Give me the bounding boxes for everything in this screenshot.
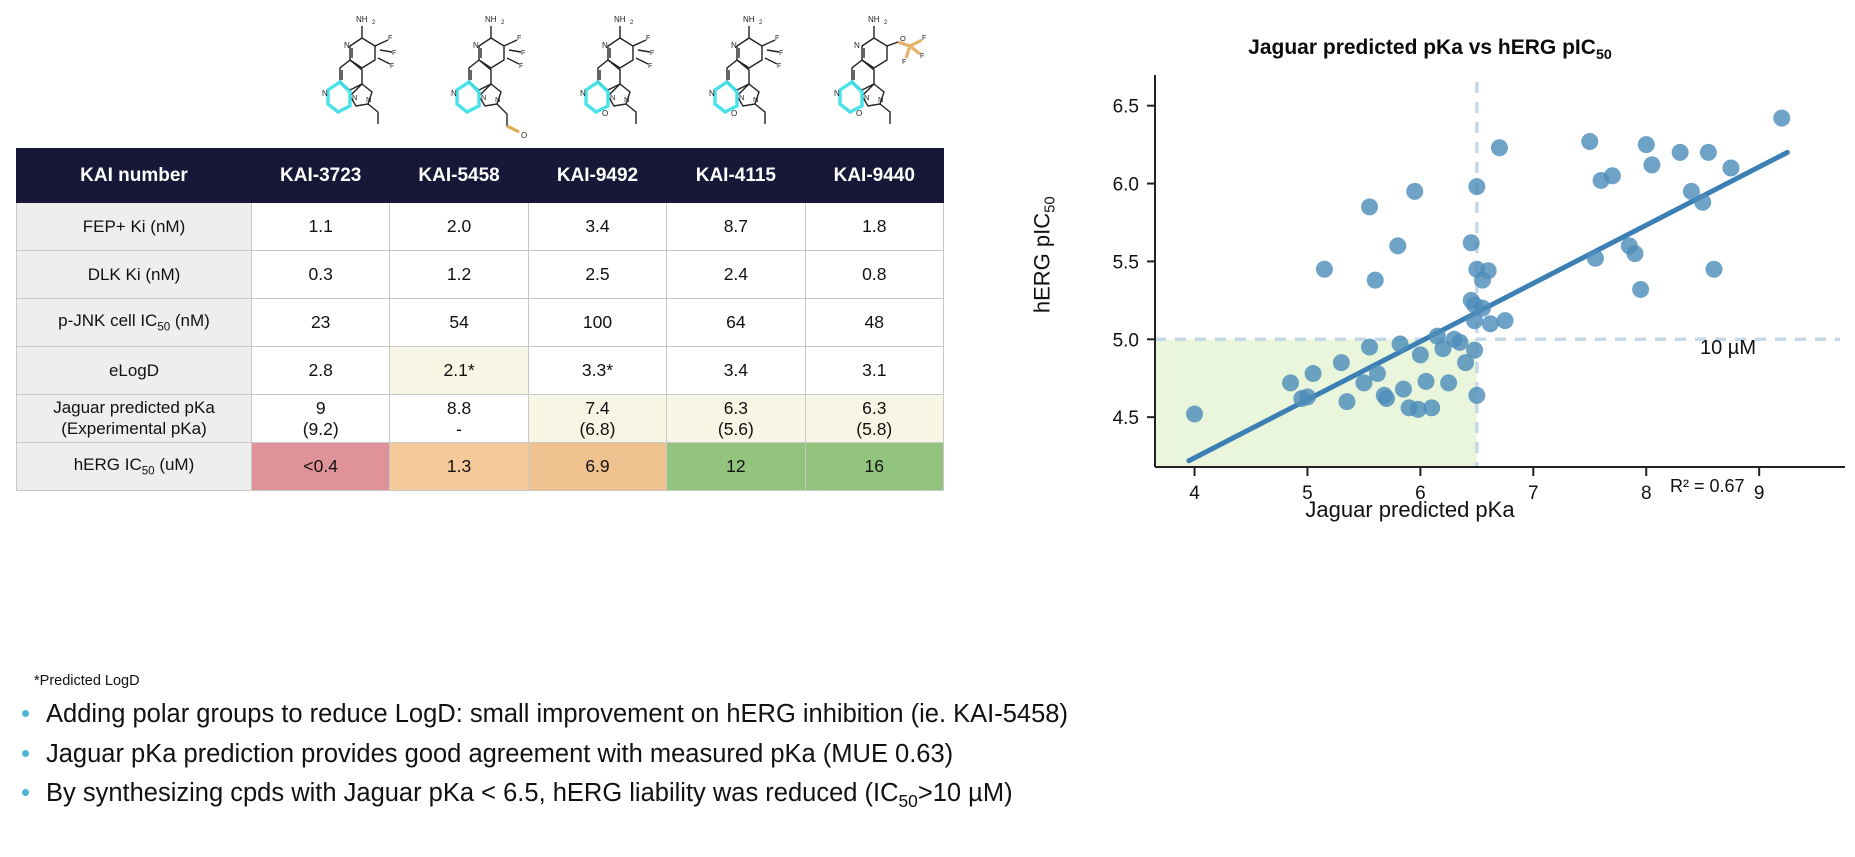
- svg-text:N: N: [624, 95, 629, 104]
- svg-text:NH: NH: [743, 15, 755, 24]
- svg-text:N: N: [864, 93, 869, 102]
- cell-herg-0: <0.4: [252, 443, 390, 491]
- cell-jaguar-3-top: 6.3: [671, 398, 800, 419]
- scatter-point: [1186, 406, 1203, 423]
- svg-text:F: F: [777, 63, 781, 70]
- svg-text:N: N: [481, 93, 486, 102]
- svg-text:N: N: [366, 95, 371, 104]
- svg-text:O: O: [521, 131, 527, 140]
- scatter-point: [1773, 110, 1790, 127]
- svg-text:NH: NH: [614, 15, 626, 24]
- table-header-row: KAI number KAI-3723 KAI-5458 KAI-9492 KA…: [17, 149, 944, 203]
- cell-fep-ki-4: 1.8: [805, 203, 943, 251]
- cell-jaguar-4-bottom: (5.8): [810, 419, 939, 440]
- scatter-point: [1474, 300, 1491, 317]
- svg-text:F: F: [775, 35, 779, 42]
- cell-fep-ki-1: 2.0: [390, 203, 528, 251]
- table-row: eLogD 2.8 2.1* 3.3* 3.4 3.1: [17, 347, 944, 395]
- cell-jaguar-4: 6.3 (5.8): [805, 395, 943, 443]
- svg-text:N: N: [352, 93, 357, 102]
- cell-dlk-ki-0: 0.3: [252, 251, 390, 299]
- bullet-text-3-pre: By synthesizing cpds with Jaguar pKa < 6…: [46, 779, 899, 807]
- cell-jaguar-1-bottom: -: [394, 419, 523, 440]
- svg-text:N: N: [854, 41, 860, 50]
- scatter-point: [1468, 178, 1485, 195]
- structure-row: NH2 N F F F N N N: [300, 8, 945, 148]
- cell-fep-ki-0: 1.1: [252, 203, 390, 251]
- cell-jaguar-2: 7.4 (6.8): [528, 395, 666, 443]
- scatter-point: [1406, 183, 1423, 200]
- header-compound-4: KAI-9440: [805, 149, 943, 203]
- svg-text:N: N: [451, 89, 457, 98]
- cell-pjnk-2: 100: [528, 299, 666, 347]
- scatter-point: [1389, 237, 1406, 254]
- scatter-point: [1604, 167, 1621, 184]
- svg-text:F: F: [390, 63, 394, 70]
- svg-text:F: F: [517, 35, 521, 42]
- svg-text:N: N: [322, 89, 328, 98]
- cell-elogd-2: 3.3*: [528, 347, 666, 395]
- table-footnote: *Predicted LogD: [34, 673, 140, 689]
- scatter-point: [1468, 387, 1485, 404]
- bullet-dot-icon: [22, 750, 29, 757]
- svg-text:O: O: [856, 109, 862, 118]
- header-compound-2: KAI-9492: [528, 149, 666, 203]
- scatter-chart: Jaguar predicted pKa vs hERG pIC50 4.55.…: [1010, 12, 1850, 557]
- list-item: By synthesizing cpds with Jaguar pKa < 6…: [22, 779, 1522, 812]
- svg-text:2: 2: [884, 20, 888, 26]
- y-axis-label-main: hERG pIC: [1029, 213, 1054, 313]
- cell-herg-3: 12: [667, 443, 805, 491]
- svg-text:N: N: [602, 41, 608, 50]
- svg-text:N: N: [610, 93, 615, 102]
- chart-x-axis-label: Jaguar predicted pKa: [1130, 497, 1690, 523]
- table-row: hERG IC50 (uM) <0.4 1.3 6.9 12 16: [17, 443, 944, 491]
- cell-dlk-ki-2: 2.5: [528, 251, 666, 299]
- svg-text:2: 2: [759, 20, 763, 26]
- row-label-herg-sub: 50: [142, 466, 155, 478]
- row-label-pjnk-pre: p-JNK cell IC: [58, 311, 157, 330]
- cell-elogd-1: 2.1*: [390, 347, 528, 395]
- cell-jaguar-1-top: 8.8: [394, 398, 523, 419]
- svg-text:N: N: [495, 95, 500, 104]
- table-row: DLK Ki (nM) 0.3 1.2 2.5 2.4 0.8: [17, 251, 944, 299]
- svg-text:N: N: [344, 41, 350, 50]
- row-label-fep-ki: FEP+ Ki (nM): [17, 203, 252, 251]
- slide-root: NH2 N F F F N N N: [0, 0, 1855, 857]
- y-tick-label: 6.5: [1113, 97, 1139, 118]
- scatter-point: [1316, 261, 1333, 278]
- bullet-dot-icon: [22, 789, 29, 796]
- x-tick-label: 9: [1754, 483, 1765, 504]
- scatter-point: [1581, 133, 1598, 150]
- structure-kai-4115: NH2 N F F F N N N O: [687, 8, 816, 148]
- header-compound-0: KAI-3723: [252, 149, 390, 203]
- table-row: p-JNK cell IC50 (nM) 23 54 100 64 48: [17, 299, 944, 347]
- scatter-point: [1480, 262, 1497, 279]
- svg-text:F: F: [521, 50, 525, 57]
- scatter-point: [1497, 312, 1514, 329]
- scatter-point: [1463, 234, 1480, 251]
- row-label-pjnk-ic50: p-JNK cell IC50 (nM): [17, 299, 252, 347]
- cell-jaguar-4-top: 6.3: [810, 398, 939, 419]
- row-label-pjnk-sub: 50: [157, 322, 170, 334]
- scatter-point: [1395, 381, 1412, 398]
- svg-text:NH: NH: [485, 15, 497, 24]
- svg-text:F: F: [519, 63, 523, 70]
- scatter-point: [1626, 245, 1643, 262]
- cell-jaguar-1: 8.8 -: [390, 395, 528, 443]
- cell-dlk-ki-1: 1.2: [390, 251, 528, 299]
- y-tick-label: 6.0: [1113, 175, 1139, 196]
- svg-text:F: F: [779, 50, 783, 57]
- y-tick-label: 5.0: [1113, 330, 1139, 351]
- cell-jaguar-2-top: 7.4: [533, 398, 662, 419]
- chart-y-axis-label: hERG pIC50: [1029, 145, 1058, 365]
- cell-elogd-3: 3.4: [667, 347, 805, 395]
- scatter-point: [1638, 136, 1655, 153]
- scatter-point: [1466, 342, 1483, 359]
- scatter-point: [1423, 399, 1440, 416]
- table-row: Jaguar predicted pKa (Experimental pKa) …: [17, 395, 944, 443]
- svg-text:NH: NH: [356, 15, 368, 24]
- scatter-point: [1305, 365, 1322, 382]
- row-label-pjnk-post: (nM): [170, 311, 210, 330]
- cell-herg-2: 6.9: [528, 443, 666, 491]
- structure-kai-3723: NH2 N F F F N N N: [300, 8, 429, 148]
- svg-text:N: N: [709, 89, 715, 98]
- svg-text:N: N: [731, 41, 737, 50]
- scatter-point: [1440, 374, 1457, 391]
- header-compound-1: KAI-5458: [390, 149, 528, 203]
- bullet-dot-icon: [22, 710, 29, 717]
- scatter-point: [1700, 144, 1717, 161]
- svg-text:NH: NH: [868, 15, 880, 24]
- bullet-list: Adding polar groups to reduce LogD: smal…: [22, 700, 1522, 823]
- svg-text:O: O: [602, 109, 608, 118]
- svg-text:O: O: [900, 34, 906, 43]
- scatter-point: [1361, 339, 1378, 356]
- cell-pjnk-4: 48: [805, 299, 943, 347]
- svg-text:F: F: [920, 53, 924, 60]
- scatter-point: [1367, 272, 1384, 289]
- svg-text:2: 2: [372, 20, 376, 26]
- scatter-point: [1418, 373, 1435, 390]
- structure-kai-9492: NH2 N F F F N N N O: [558, 8, 687, 148]
- list-item: Adding polar groups to reduce LogD: smal…: [22, 700, 1522, 729]
- scatter-point: [1722, 159, 1739, 176]
- svg-text:F: F: [648, 63, 652, 70]
- bullet-text-1: Adding polar groups to reduce LogD: smal…: [46, 700, 1068, 729]
- cell-jaguar-3: 6.3 (5.6): [667, 395, 805, 443]
- scatter-point: [1643, 156, 1660, 173]
- scatter-point: [1361, 198, 1378, 215]
- svg-text:N: N: [878, 95, 883, 104]
- svg-text:F: F: [650, 50, 654, 57]
- cell-dlk-ki-4: 0.8: [805, 251, 943, 299]
- list-item: Jaguar pKa prediction provides good agre…: [22, 740, 1522, 769]
- annotation-r-squared: R² = 0.67: [1670, 476, 1745, 497]
- svg-text:O: O: [731, 109, 737, 118]
- svg-text:F: F: [646, 35, 650, 42]
- svg-text:F: F: [388, 35, 392, 42]
- cell-elogd-0: 2.8: [252, 347, 390, 395]
- cell-fep-ki-3: 8.7: [667, 203, 805, 251]
- table-row: FEP+ Ki (nM) 1.1 2.0 3.4 8.7 1.8: [17, 203, 944, 251]
- results-table-wrapper: KAI number KAI-3723 KAI-5458 KAI-9492 KA…: [16, 148, 943, 491]
- cell-dlk-ki-3: 2.4: [667, 251, 805, 299]
- cell-elogd-4: 3.1: [805, 347, 943, 395]
- svg-text:F: F: [392, 50, 396, 57]
- cell-pjnk-1: 54: [390, 299, 528, 347]
- cell-herg-1: 1.3: [390, 443, 528, 491]
- y-tick-label: 5.5: [1113, 252, 1139, 273]
- cell-jaguar-2-bottom: (6.8): [533, 419, 662, 440]
- y-axis-label-sub: 50: [1042, 196, 1059, 213]
- svg-text:N: N: [473, 41, 479, 50]
- bullet-text-3-post: >10 µM): [918, 779, 1013, 807]
- cell-pjnk-3: 64: [667, 299, 805, 347]
- scatter-point: [1282, 374, 1299, 391]
- header-kai-number: KAI number: [17, 149, 252, 203]
- annotation-10um: 10 µM: [1700, 337, 1756, 360]
- svg-text:N: N: [580, 89, 586, 98]
- row-label-herg-ic50: hERG IC50 (uM): [17, 443, 252, 491]
- bullet-text-3-sub: 50: [899, 791, 918, 811]
- scatter-point: [1338, 393, 1355, 410]
- svg-text:F: F: [922, 35, 926, 42]
- row-label-jaguar-pka: Jaguar predicted pKa (Experimental pKa): [17, 395, 252, 443]
- cell-herg-4: 16: [805, 443, 943, 491]
- row-label-jaguar-line2: (Experimental pKa): [21, 419, 247, 439]
- row-label-jaguar-line1: Jaguar predicted pKa: [21, 398, 247, 418]
- scatter-point: [1491, 139, 1508, 156]
- scatter-point: [1482, 315, 1499, 332]
- cell-fep-ki-2: 3.4: [528, 203, 666, 251]
- row-label-dlk-ki: DLK Ki (nM): [17, 251, 252, 299]
- scatter-point: [1694, 194, 1711, 211]
- svg-text:N: N: [753, 95, 758, 104]
- scatter-point: [1672, 144, 1689, 161]
- cell-pjnk-0: 23: [252, 299, 390, 347]
- bullet-text-3: By synthesizing cpds with Jaguar pKa < 6…: [46, 779, 1013, 812]
- svg-text:2: 2: [501, 20, 505, 26]
- scatter-point: [1412, 346, 1429, 363]
- cell-jaguar-0-top: 9: [256, 398, 385, 419]
- cell-jaguar-3-bottom: (5.6): [671, 419, 800, 440]
- structure-kai-9440: NH2 N N N N O: [816, 8, 945, 148]
- scatter-point: [1587, 250, 1604, 267]
- cell-jaguar-0-bottom: (9.2): [256, 419, 385, 440]
- scatter-point: [1392, 335, 1409, 352]
- bullet-text-2: Jaguar pKa prediction provides good agre…: [46, 740, 953, 769]
- scatter-point: [1299, 388, 1316, 405]
- svg-text:2: 2: [630, 20, 634, 26]
- structure-kai-5458: NH2 N F F F N N N: [429, 8, 558, 148]
- results-table: KAI number KAI-3723 KAI-5458 KAI-9492 KA…: [16, 148, 944, 491]
- cell-jaguar-0: 9 (9.2): [252, 395, 390, 443]
- row-label-herg-pre: hERG IC: [74, 455, 142, 474]
- scatter-point: [1706, 261, 1723, 278]
- row-label-elogd: eLogD: [17, 347, 252, 395]
- scatter-point: [1369, 365, 1386, 382]
- scatter-point: [1378, 390, 1395, 407]
- row-label-herg-post: (uM): [155, 455, 195, 474]
- header-compound-3: KAI-4115: [667, 149, 805, 203]
- svg-text:N: N: [834, 89, 840, 98]
- y-tick-label: 4.5: [1113, 408, 1139, 429]
- svg-text:F: F: [902, 59, 906, 66]
- scatter-point: [1333, 354, 1350, 371]
- svg-text:N: N: [739, 93, 744, 102]
- scatter-point: [1451, 334, 1468, 351]
- scatter-point: [1632, 281, 1649, 298]
